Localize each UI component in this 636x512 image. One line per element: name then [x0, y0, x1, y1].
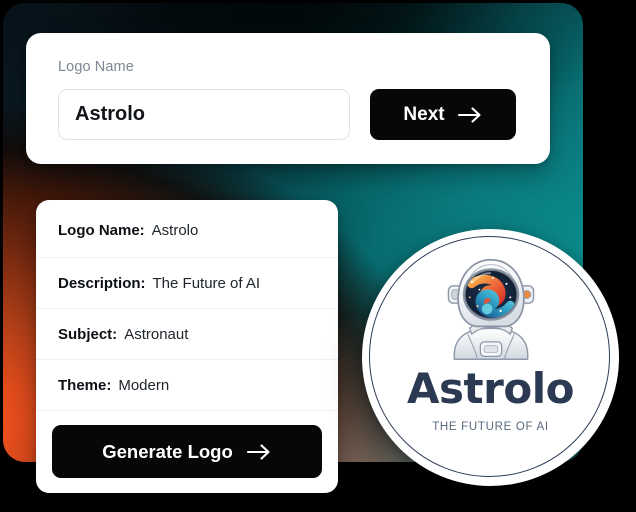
detail-row-theme: Theme: Modern: [36, 360, 338, 411]
generate-logo-button[interactable]: Generate Logo: [52, 425, 322, 478]
generate-logo-button-label: Generate Logo: [102, 441, 233, 463]
logo-name-label: Logo Name: [58, 59, 134, 75]
detail-key: Logo Name:: [58, 222, 145, 239]
detail-row-description: Description: The Future of AI: [36, 258, 338, 309]
arrow-right-icon: [457, 106, 483, 124]
logo-wordmark: Astrolo: [362, 368, 619, 410]
logo-name-card: Logo Name Next: [26, 33, 550, 164]
detail-value: Astronaut: [124, 326, 188, 343]
logo-preview-badge[interactable]: Astrolo THE FUTURE OF AI: [362, 229, 619, 486]
next-button[interactable]: Next: [370, 89, 516, 140]
detail-key: Description:: [58, 275, 146, 292]
detail-key: Theme:: [58, 377, 111, 394]
detail-key: Subject:: [58, 326, 117, 343]
detail-row-subject: Subject: Astronaut: [36, 309, 338, 360]
next-button-label: Next: [403, 104, 444, 126]
detail-value: The Future of AI: [153, 275, 261, 292]
logo-name-input[interactable]: [58, 89, 350, 140]
arrow-right-icon: [246, 443, 272, 461]
logo-details-card: Logo Name: Astrolo Description: The Futu…: [36, 200, 338, 493]
detail-value: Modern: [118, 377, 169, 394]
detail-value: Astrolo: [152, 222, 199, 239]
astronaut-helmet-icon: [433, 251, 549, 367]
logo-tagline: THE FUTURE OF AI: [362, 421, 619, 433]
detail-row-logo-name: Logo Name: Astrolo: [36, 204, 338, 258]
